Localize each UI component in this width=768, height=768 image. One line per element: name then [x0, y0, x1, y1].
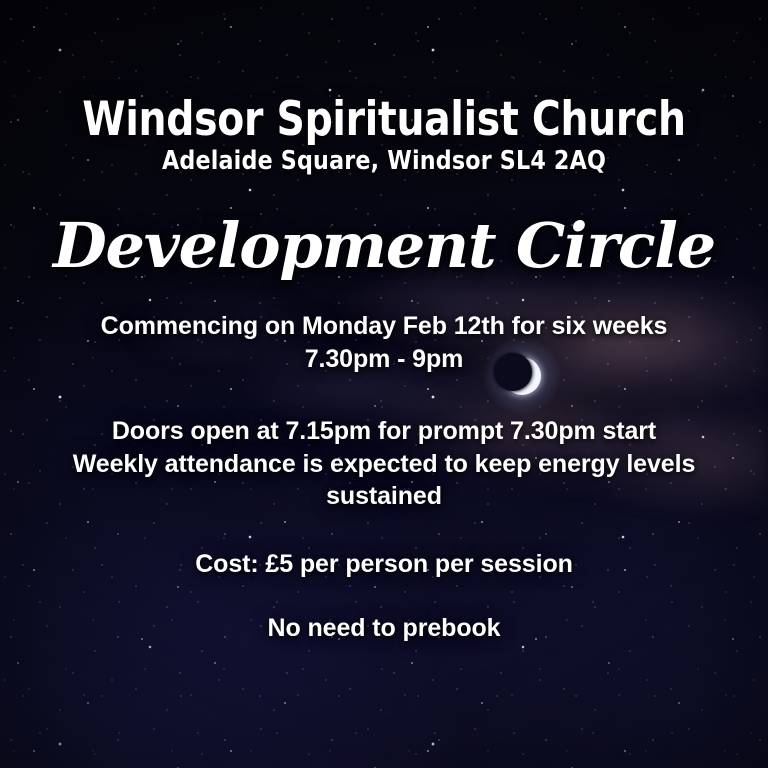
schedule-line-times: 7.30pm - 9pm	[0, 343, 768, 376]
event-booking-note: No need to prebook	[0, 612, 768, 645]
event-details-block: Doors open at 7.15pm for prompt 7.30pm s…	[0, 415, 768, 513]
event-poster: Windsor Spiritualist Church Adelaide Squ…	[0, 0, 768, 768]
schedule-line-dates: Commencing on Monday Feb 12th for six we…	[0, 310, 768, 343]
church-address-subheading: Adelaide Square, Windsor SL4 2AQ	[19, 148, 749, 175]
event-schedule-block: Commencing on Monday Feb 12th for six we…	[0, 310, 768, 375]
details-line-doors: Doors open at 7.15pm for prompt 7.30pm s…	[0, 415, 768, 448]
church-name-heading: Windsor Spiritualist Church	[27, 96, 741, 144]
details-line-attendance-cont: sustained	[0, 480, 768, 513]
event-cost: Cost: £5 per person per session	[0, 548, 768, 581]
poster-content: Windsor Spiritualist Church Adelaide Squ…	[0, 0, 768, 768]
event-title: Development Circle	[0, 215, 768, 277]
details-line-attendance: Weekly attendance is expected to keep en…	[0, 448, 768, 481]
